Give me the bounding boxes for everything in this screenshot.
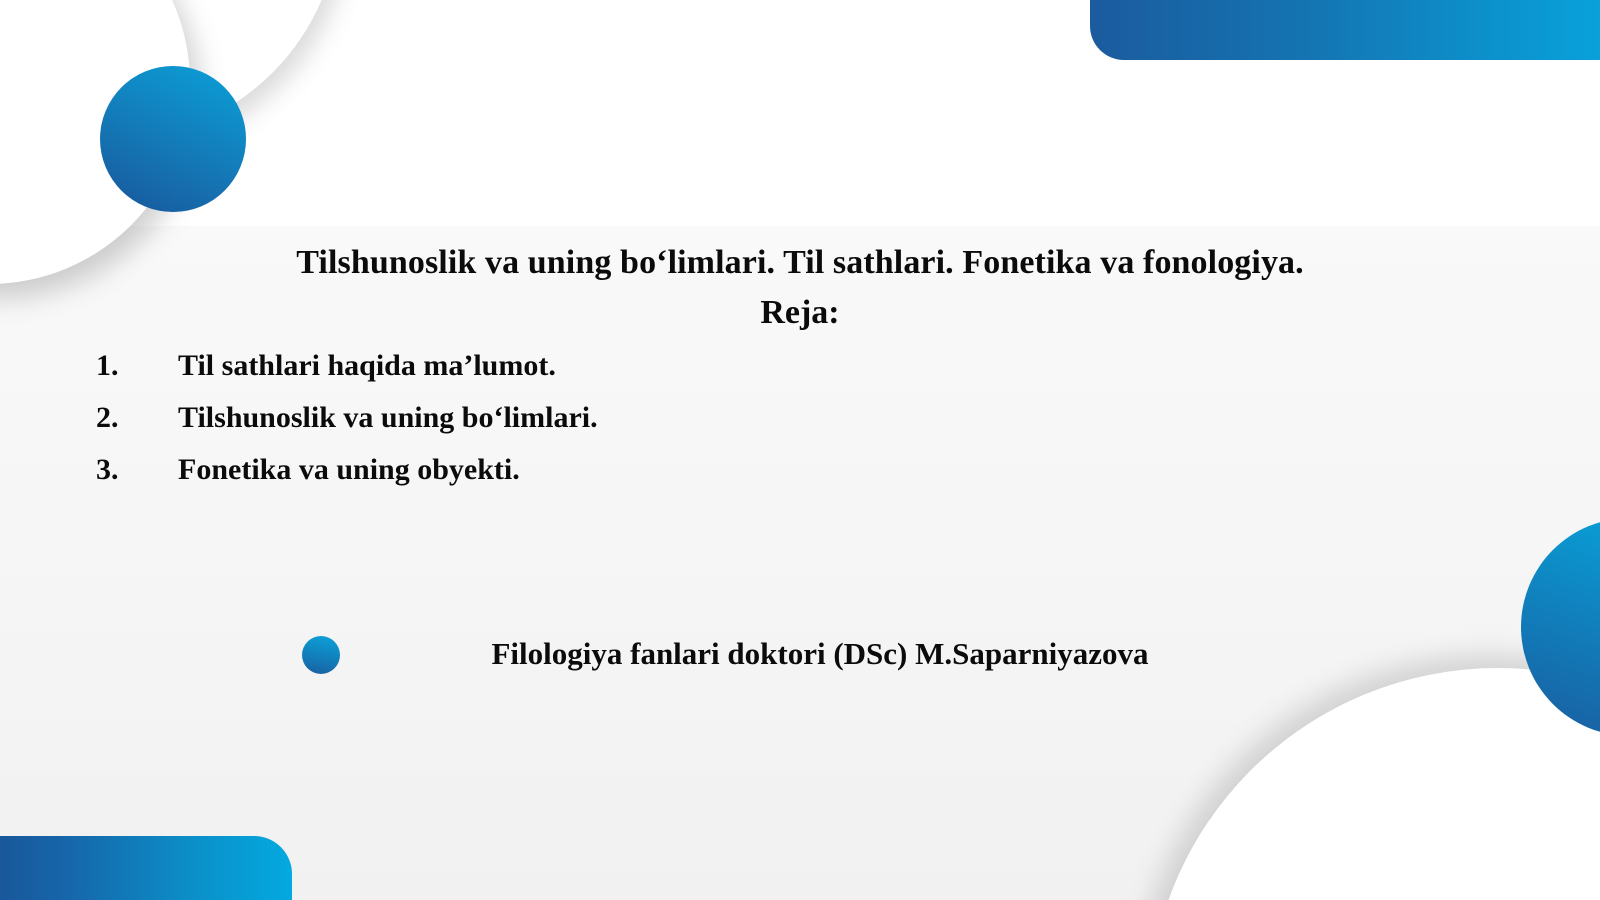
agenda-item: 2. Tilshunoslik va uning bo‘limlari. xyxy=(96,392,1096,444)
agenda-item-number: 1. xyxy=(96,340,178,392)
agenda-item-label: Tilshunoslik va uning bo‘limlari. xyxy=(178,392,598,444)
agenda-item-label: Til sathlari haqida ma’lumot. xyxy=(178,340,556,392)
agenda-item-number: 2. xyxy=(96,392,178,444)
agenda-item: 3. Fonetika va uning obyekti. xyxy=(96,444,1096,496)
slide-title: Tilshunoslik va uning bo‘limlari. Til sa… xyxy=(0,238,1600,288)
author-credit: Filologiya fanlari doktori (DSc) M.Sapar… xyxy=(0,632,1600,676)
agenda-heading: Reja: xyxy=(0,288,1600,338)
slide-content: Tilshunoslik va uning bo‘limlari. Til sa… xyxy=(0,0,1600,900)
presentation-slide: Tilshunoslik va uning bo‘limlari. Til sa… xyxy=(0,0,1600,900)
agenda-item: 1. Til sathlari haqida ma’lumot. xyxy=(96,340,1096,392)
agenda-item-label: Fonetika va uning obyekti. xyxy=(178,444,520,496)
agenda-item-number: 3. xyxy=(96,444,178,496)
title-block: Tilshunoslik va uning bo‘limlari. Til sa… xyxy=(0,238,1600,338)
agenda-list: 1. Til sathlari haqida ma’lumot. 2. Tils… xyxy=(96,340,1096,496)
